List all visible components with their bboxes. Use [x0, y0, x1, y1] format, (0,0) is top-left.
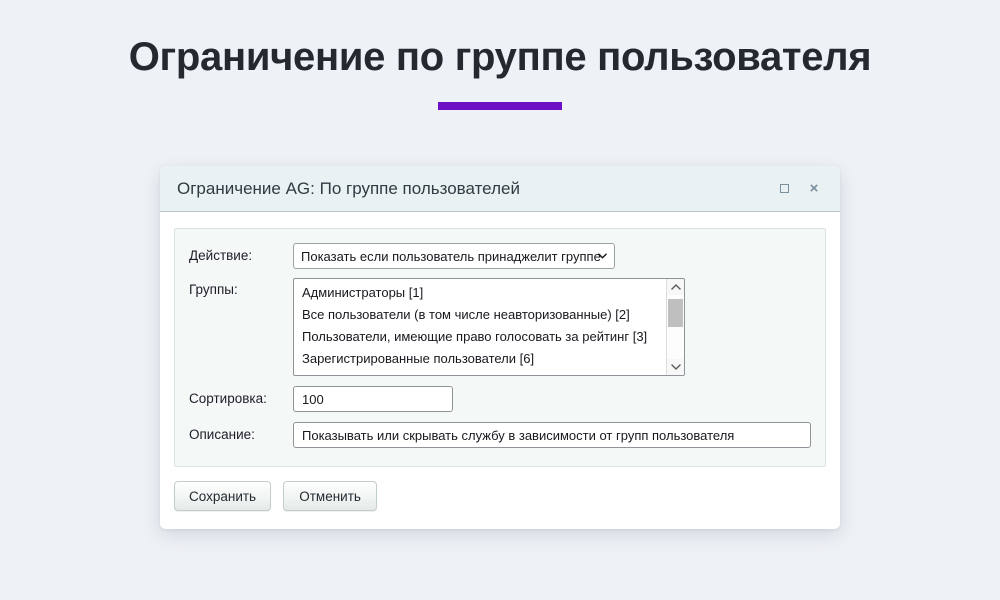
description-label: Описание: — [189, 422, 293, 442]
groups-listbox-items: Администраторы [1] Все пользователи (в т… — [294, 279, 666, 375]
cancel-button[interactable]: Отменить — [283, 481, 377, 511]
chevron-up-icon[interactable] — [667, 279, 684, 295]
form-row-sort: Сортировка: 100 — [189, 386, 811, 412]
save-button[interactable]: Сохранить — [174, 481, 271, 511]
list-item[interactable]: Администраторы [1] — [302, 282, 666, 304]
list-item[interactable]: Все пользователи (в том числе неавторизо… — [302, 304, 666, 326]
description-input-value: Показывать или скрывать службу в зависим… — [302, 428, 734, 443]
sort-label: Сортировка: — [189, 386, 293, 406]
groups-label: Группы: — [189, 278, 293, 297]
groups-listbox[interactable]: Администраторы [1] Все пользователи (в т… — [293, 278, 685, 376]
sort-input-value: 100 — [302, 392, 324, 407]
form-panel: Действие: Показать если пользователь при… — [174, 228, 826, 467]
restriction-dialog: Ограничение AG: По группе пользователей … — [160, 166, 840, 529]
dialog-title: Ограничение AG: По группе пользователей — [177, 179, 766, 199]
list-item[interactable]: Зарегистрированные пользователи [6] — [302, 348, 666, 370]
dialog-titlebar: Ограничение AG: По группе пользователей … — [160, 166, 840, 212]
list-item[interactable]: Пользователи, имеющие право голосовать з… — [302, 326, 666, 348]
action-label: Действие: — [189, 243, 293, 263]
description-input[interactable]: Показывать или скрывать службу в зависим… — [293, 422, 811, 448]
sort-input[interactable]: 100 — [293, 386, 453, 412]
form-row-action: Действие: Показать если пользователь при… — [189, 243, 811, 269]
action-select-value: Показать если пользователь принаджелит г… — [301, 249, 601, 264]
form-row-description: Описание: Показывать или скрывать службу… — [189, 422, 811, 448]
page-title: Ограничение по группе пользователя — [0, 34, 1000, 80]
page-header: Ограничение по группе пользователя — [0, 0, 1000, 110]
scrollbar-thumb[interactable] — [668, 299, 683, 327]
title-underline-accent — [438, 102, 562, 110]
chevron-down-icon[interactable] — [667, 359, 684, 375]
dialog-body: Действие: Показать если пользователь при… — [160, 212, 840, 467]
maximize-icon[interactable] — [772, 177, 796, 201]
close-icon[interactable]: × — [802, 177, 826, 201]
action-select[interactable]: Показать если пользователь принаджелит г… — [293, 243, 615, 269]
dialog-footer: Сохранить Отменить — [160, 467, 840, 529]
listbox-scrollbar[interactable] — [666, 279, 684, 375]
form-row-groups: Группы: Администраторы [1] Все пользоват… — [189, 278, 811, 376]
